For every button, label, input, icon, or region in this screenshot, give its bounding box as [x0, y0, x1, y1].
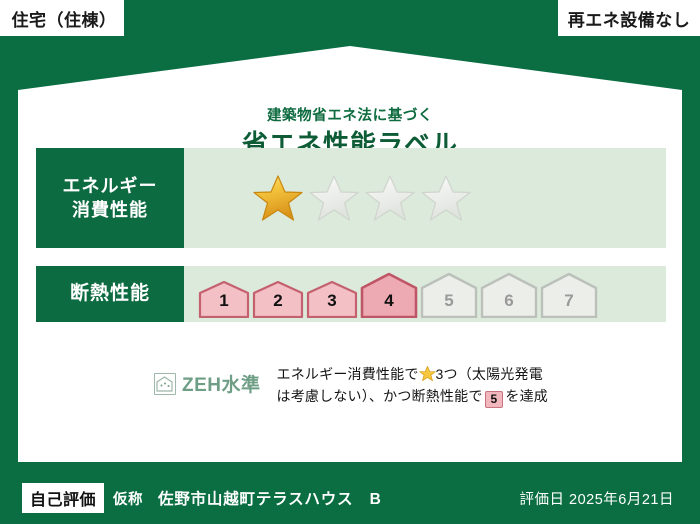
zeh-standard-label: ZEH水準	[182, 370, 261, 397]
tab-building-type: 住宅（住棟）	[0, 0, 124, 36]
star-4-empty	[420, 173, 472, 223]
energy-label-line2: 消費性能	[72, 198, 148, 222]
grade-house-1: 1	[198, 280, 250, 318]
zeh-desc-line2-a: は考慮しない）、かつ断熱性能で	[277, 388, 483, 404]
energy-label-line1: エネルギー	[63, 174, 158, 198]
insulation-performance-row: 断熱性能 1 2	[36, 266, 666, 322]
evaluation-date: 評価日 2025年6月21日	[520, 488, 674, 509]
tab-renewable-energy: 再エネ設備なし	[558, 0, 700, 36]
label-subtitle: 建築物省エネ法に基づく	[18, 108, 682, 125]
label-footer: 自己評価 仮称 佐野市山越町テラスハウス B 評価日 2025年6月21日	[0, 472, 700, 524]
energy-star-rating	[184, 148, 666, 248]
zeh-desc-line1-a: エネルギー消費性能で	[277, 366, 419, 382]
grade-house-list: 1 2 3	[198, 266, 600, 322]
insulation-grade-scale: 1 2 3	[184, 266, 666, 322]
footer-left-group: 自己評価 仮称 佐野市山越町テラスハウス B	[22, 483, 382, 513]
zeh-house-icon	[154, 373, 176, 395]
self-evaluation-badge: 自己評価	[22, 483, 104, 513]
provisional-name-label: 仮称	[113, 488, 143, 509]
tab-building-type-label: 住宅（住棟）	[12, 6, 117, 31]
star-2-empty	[308, 173, 360, 223]
zeh-description-text: エネルギー消費性能で3つ（太陽光発電 は考慮しない）、かつ断熱性能で5を達成	[277, 364, 666, 408]
grade-chip-5: 5	[485, 391, 504, 408]
zeh-standard-mark: ZEH水準	[154, 370, 261, 397]
energy-performance-row: エネルギー 消費性能	[36, 148, 666, 248]
building-name: 佐野市山越町テラスハウス B	[158, 487, 382, 509]
insulation-label-text: 断熱性能	[70, 281, 150, 307]
grade-house-3: 3	[306, 280, 358, 318]
grade-house-7: 7	[540, 272, 598, 318]
insulation-performance-label: 断熱性能	[36, 266, 184, 322]
inline-star-icon	[419, 365, 436, 382]
tab-renewable-energy-label: 再エネ設備なし	[568, 6, 691, 31]
zeh-desc-line2-b: を達成	[505, 388, 548, 404]
star-3-empty	[364, 173, 416, 223]
zeh-desc-line1-b: 3つ（太陽光発電	[436, 366, 543, 382]
energy-performance-label: エネルギー 消費性能	[36, 148, 184, 248]
grade-house-5: 5	[420, 272, 478, 318]
grade-house-2: 2	[252, 280, 304, 318]
energy-label-card: 住宅（住棟） 再エネ設備なし 建築物省エネ法に基づく 省エネ性能ラベル エネルギ…	[0, 0, 700, 524]
star-1-filled	[252, 173, 304, 223]
grade-house-4: 4	[360, 272, 418, 318]
grade-house-6: 6	[480, 272, 538, 318]
zeh-note-block: ZEH水準 エネルギー消費性能で3つ（太陽光発電 は考慮しない）、かつ断熱性能で…	[36, 360, 666, 418]
